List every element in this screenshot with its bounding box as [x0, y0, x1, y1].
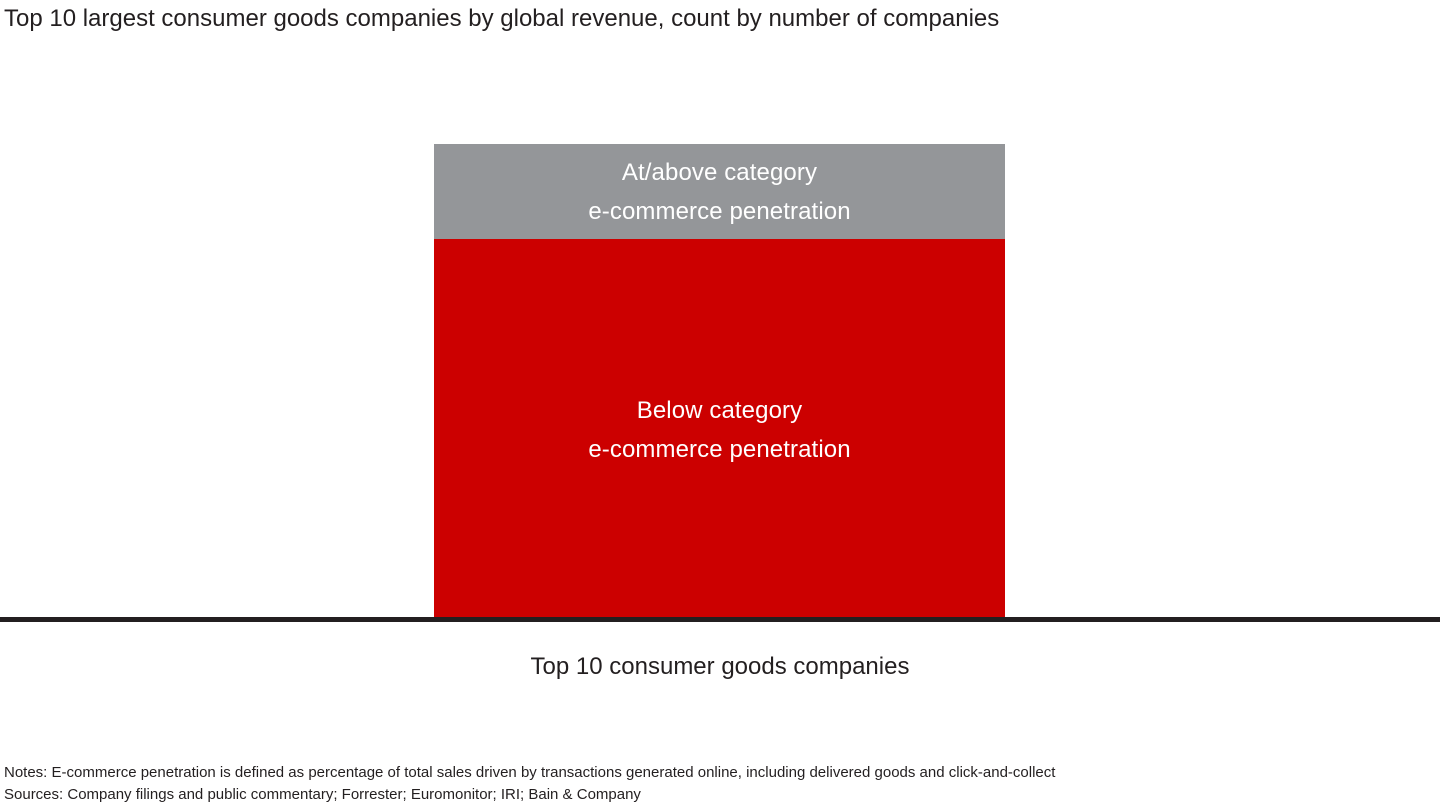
bar-segment-at-above-category[interactable]: At/above category e-commerce penetration: [434, 144, 1005, 239]
bar-segment-below-category[interactable]: Below category e-commerce penetration: [434, 239, 1005, 620]
bar-segment-label-at-above-category: At/above category e-commerce penetration: [588, 153, 850, 231]
x-axis-category-label: Top 10 consumer goods companies: [0, 650, 1440, 684]
x-axis-line: [0, 617, 1440, 622]
footnote-notes: Notes: E-commerce penetration is defined…: [4, 762, 1440, 784]
footnotes: Notes: E-commerce penetration is defined…: [4, 762, 1440, 806]
footnote-sources: Sources: Company filings and public comm…: [4, 784, 1440, 806]
stacked-bar[interactable]: At/above category e-commerce penetration…: [434, 144, 1005, 620]
chart-container: Top 10 largest consumer goods companies …: [0, 0, 1440, 810]
bar-segment-label-below-category: Below category e-commerce penetration: [588, 391, 850, 469]
plot-area: At/above category e-commerce penetration…: [0, 60, 1440, 620]
chart-title: Top 10 largest consumer goods companies …: [4, 3, 1434, 35]
